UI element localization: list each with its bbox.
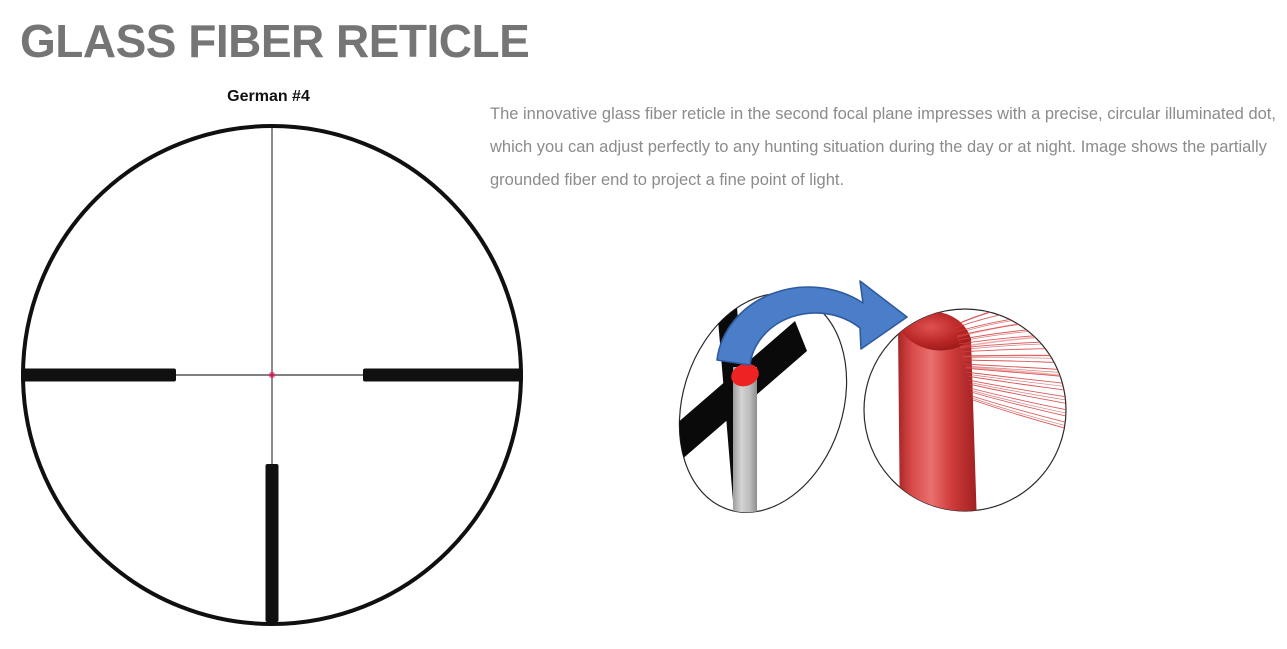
german-4-reticle-diagram <box>0 110 545 630</box>
left-thick-post <box>21 369 176 382</box>
glass-fiber-rod <box>733 367 757 520</box>
illuminated-center-dot-core <box>270 373 274 377</box>
reticle-panel: German #4 <box>0 88 545 633</box>
page-title: GLASS FIBER RETICLE <box>20 16 529 67</box>
description-paragraph: The innovative glass fiber reticle in th… <box>490 98 1285 197</box>
reticle-name-label: German #4 <box>0 88 541 106</box>
magnified-fiber-end-view <box>864 293 1085 520</box>
bottom-thick-post <box>266 464 279 622</box>
fiber-end-illustration <box>655 255 1085 520</box>
right-thick-post <box>363 369 523 382</box>
